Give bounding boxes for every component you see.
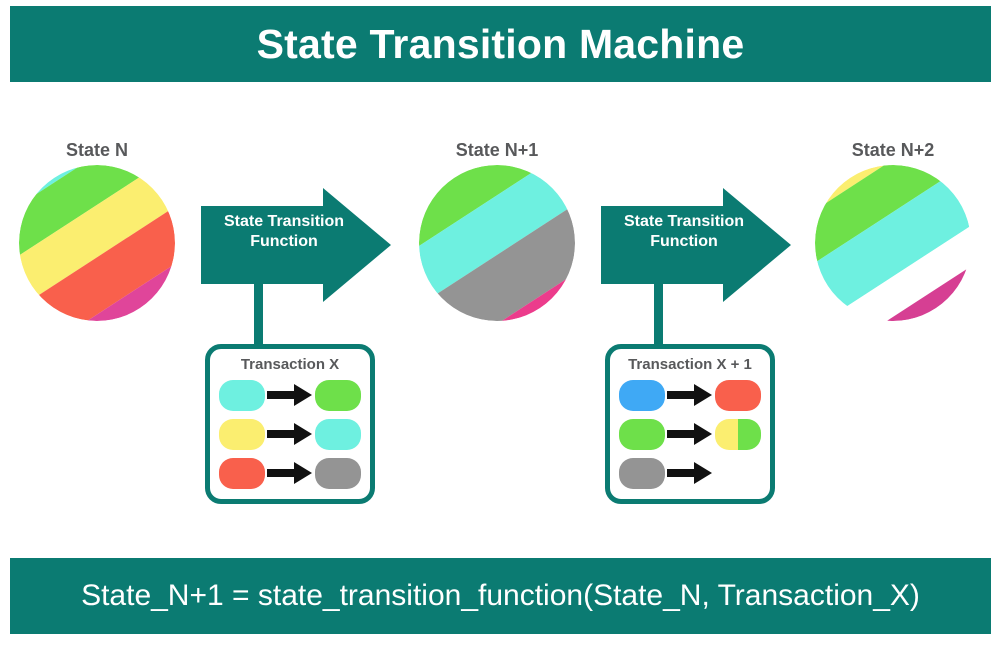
pill-from xyxy=(619,380,665,411)
transaction-box-2-title: Transaction X + 1 xyxy=(610,355,770,375)
block-arrow-shape xyxy=(601,188,797,358)
pill-to xyxy=(315,419,361,450)
state-n-plus-2-circle xyxy=(815,165,971,321)
formula-text: State_N+1 = state_transition_function(St… xyxy=(81,581,920,611)
transaction-box-1-title: Transaction X xyxy=(210,355,370,375)
row-arrow-icon xyxy=(265,423,315,445)
row-arrow-icon xyxy=(265,384,315,406)
pill-from xyxy=(619,458,665,489)
pill-to xyxy=(315,458,361,489)
formula-bar: State_N+1 = state_transition_function(St… xyxy=(10,558,991,634)
transaction-box-2-rows xyxy=(610,379,770,490)
transaction-box-1-rows xyxy=(210,379,370,490)
transaction-row xyxy=(619,379,761,412)
state-n-circle xyxy=(19,165,175,321)
state-n-stripes xyxy=(19,165,175,321)
transaction-box-1[interactable]: Transaction X xyxy=(205,344,375,504)
pill-from xyxy=(219,458,265,489)
row-arrow-icon xyxy=(665,384,715,406)
row-arrow-icon xyxy=(265,462,315,484)
transaction-row xyxy=(219,418,361,451)
state-n-plus-1-label: State N+1 xyxy=(397,140,597,161)
pill-to xyxy=(715,380,761,411)
state-transition-arrow-1: State Transition Function xyxy=(201,188,397,358)
header-bar: State Transition Machine xyxy=(10,6,991,82)
pill-from xyxy=(619,419,665,450)
state-transition-arrow-2: State Transition Function xyxy=(601,188,797,358)
pill-to xyxy=(315,380,361,411)
pill-to xyxy=(715,419,761,450)
state-n-plus-2-label: State N+2 xyxy=(793,140,993,161)
pill-to-empty xyxy=(715,458,761,489)
transaction-row xyxy=(619,457,761,490)
transaction-row xyxy=(219,379,361,412)
transaction-row xyxy=(619,418,761,451)
diagram-canvas: State Transition Machine State N State N… xyxy=(0,0,1001,650)
row-arrow-icon xyxy=(665,462,715,484)
pill-from xyxy=(219,419,265,450)
row-arrow-icon xyxy=(665,423,715,445)
pill-from xyxy=(219,380,265,411)
page-title: State Transition Machine xyxy=(257,24,745,65)
transaction-row xyxy=(219,457,361,490)
state-n-plus-1-circle xyxy=(419,165,575,321)
transaction-box-2[interactable]: Transaction X + 1 xyxy=(605,344,775,504)
state-n-plus-1-stripes xyxy=(419,165,575,321)
state-n-label: State N xyxy=(0,140,197,161)
block-arrow-shape xyxy=(201,188,397,358)
state-n-plus-2-stripes xyxy=(815,165,971,321)
